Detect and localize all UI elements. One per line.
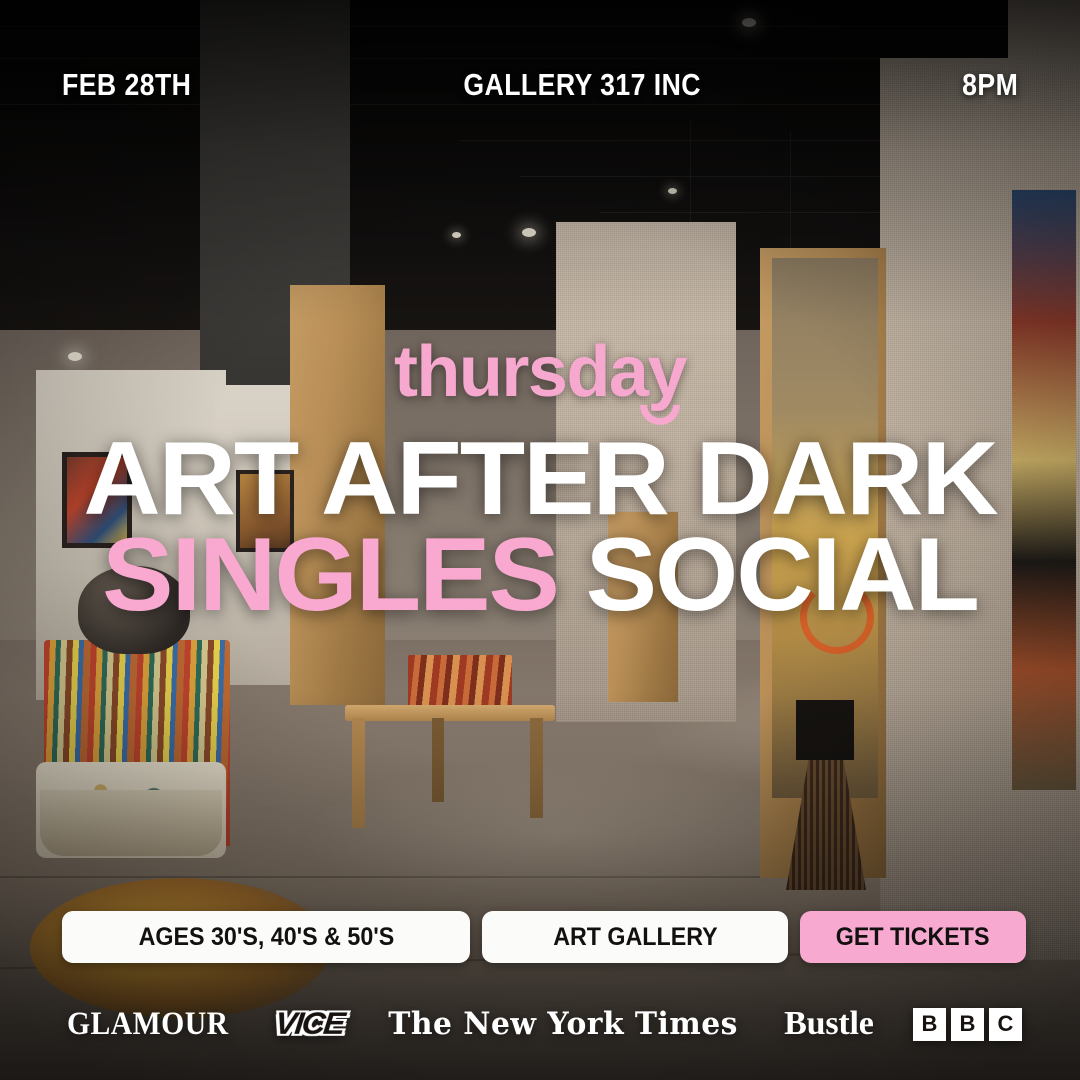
- bbc-letter-2: B: [951, 1008, 984, 1041]
- headline-word-singles: SINGLES: [102, 517, 558, 633]
- headline-word-social: SOCIAL: [586, 517, 978, 633]
- headline-line-1: ART AFTER DARK: [0, 432, 1080, 528]
- bbc-letter-3: C: [989, 1008, 1022, 1041]
- bbc-letter-1: B: [913, 1008, 946, 1041]
- press-logo-row: GLAMOUR VICE The New York Times Bustle B…: [0, 998, 1080, 1050]
- event-date: FEB 28TH: [62, 67, 191, 103]
- info-pill-row: AGES 30'S, 40'S & 50'S ART GALLERY GET T…: [62, 911, 1018, 963]
- bbc-logo: B B C: [913, 1008, 1022, 1041]
- event-headline: ART AFTER DARK SINGLES SOCIAL: [0, 432, 1080, 623]
- event-poster: FEB 28TH GALLERY 317 INC 8PM thursday AR…: [0, 0, 1080, 1080]
- pill-venue-label: ART GALLERY: [553, 923, 717, 952]
- new-york-times-logo: The New York Times: [388, 1006, 738, 1042]
- brand-wordmark-thursday: thursday: [394, 336, 686, 408]
- headline-word-spacer: [558, 517, 586, 633]
- event-venue-name: GALLERY 317 INC: [264, 67, 901, 103]
- pill-ages-label: AGES 30'S, 40'S & 50'S: [138, 923, 394, 952]
- headline-line-2: SINGLES SOCIAL: [0, 528, 1080, 624]
- glamour-logo: GLAMOUR: [67, 1006, 229, 1043]
- bustle-logo: Bustle: [784, 1005, 873, 1043]
- event-time: 8PM: [962, 67, 1018, 103]
- get-tickets-label: GET TICKETS: [836, 923, 990, 952]
- get-tickets-button[interactable]: GET TICKETS: [800, 911, 1026, 963]
- brand-logo: thursday: [0, 336, 1080, 408]
- vice-logo: VICE: [273, 1006, 345, 1042]
- pill-venue-type[interactable]: ART GALLERY: [482, 911, 788, 963]
- top-info-bar: FEB 28TH GALLERY 317 INC 8PM: [0, 62, 1080, 108]
- pill-ages[interactable]: AGES 30'S, 40'S & 50'S: [62, 911, 470, 963]
